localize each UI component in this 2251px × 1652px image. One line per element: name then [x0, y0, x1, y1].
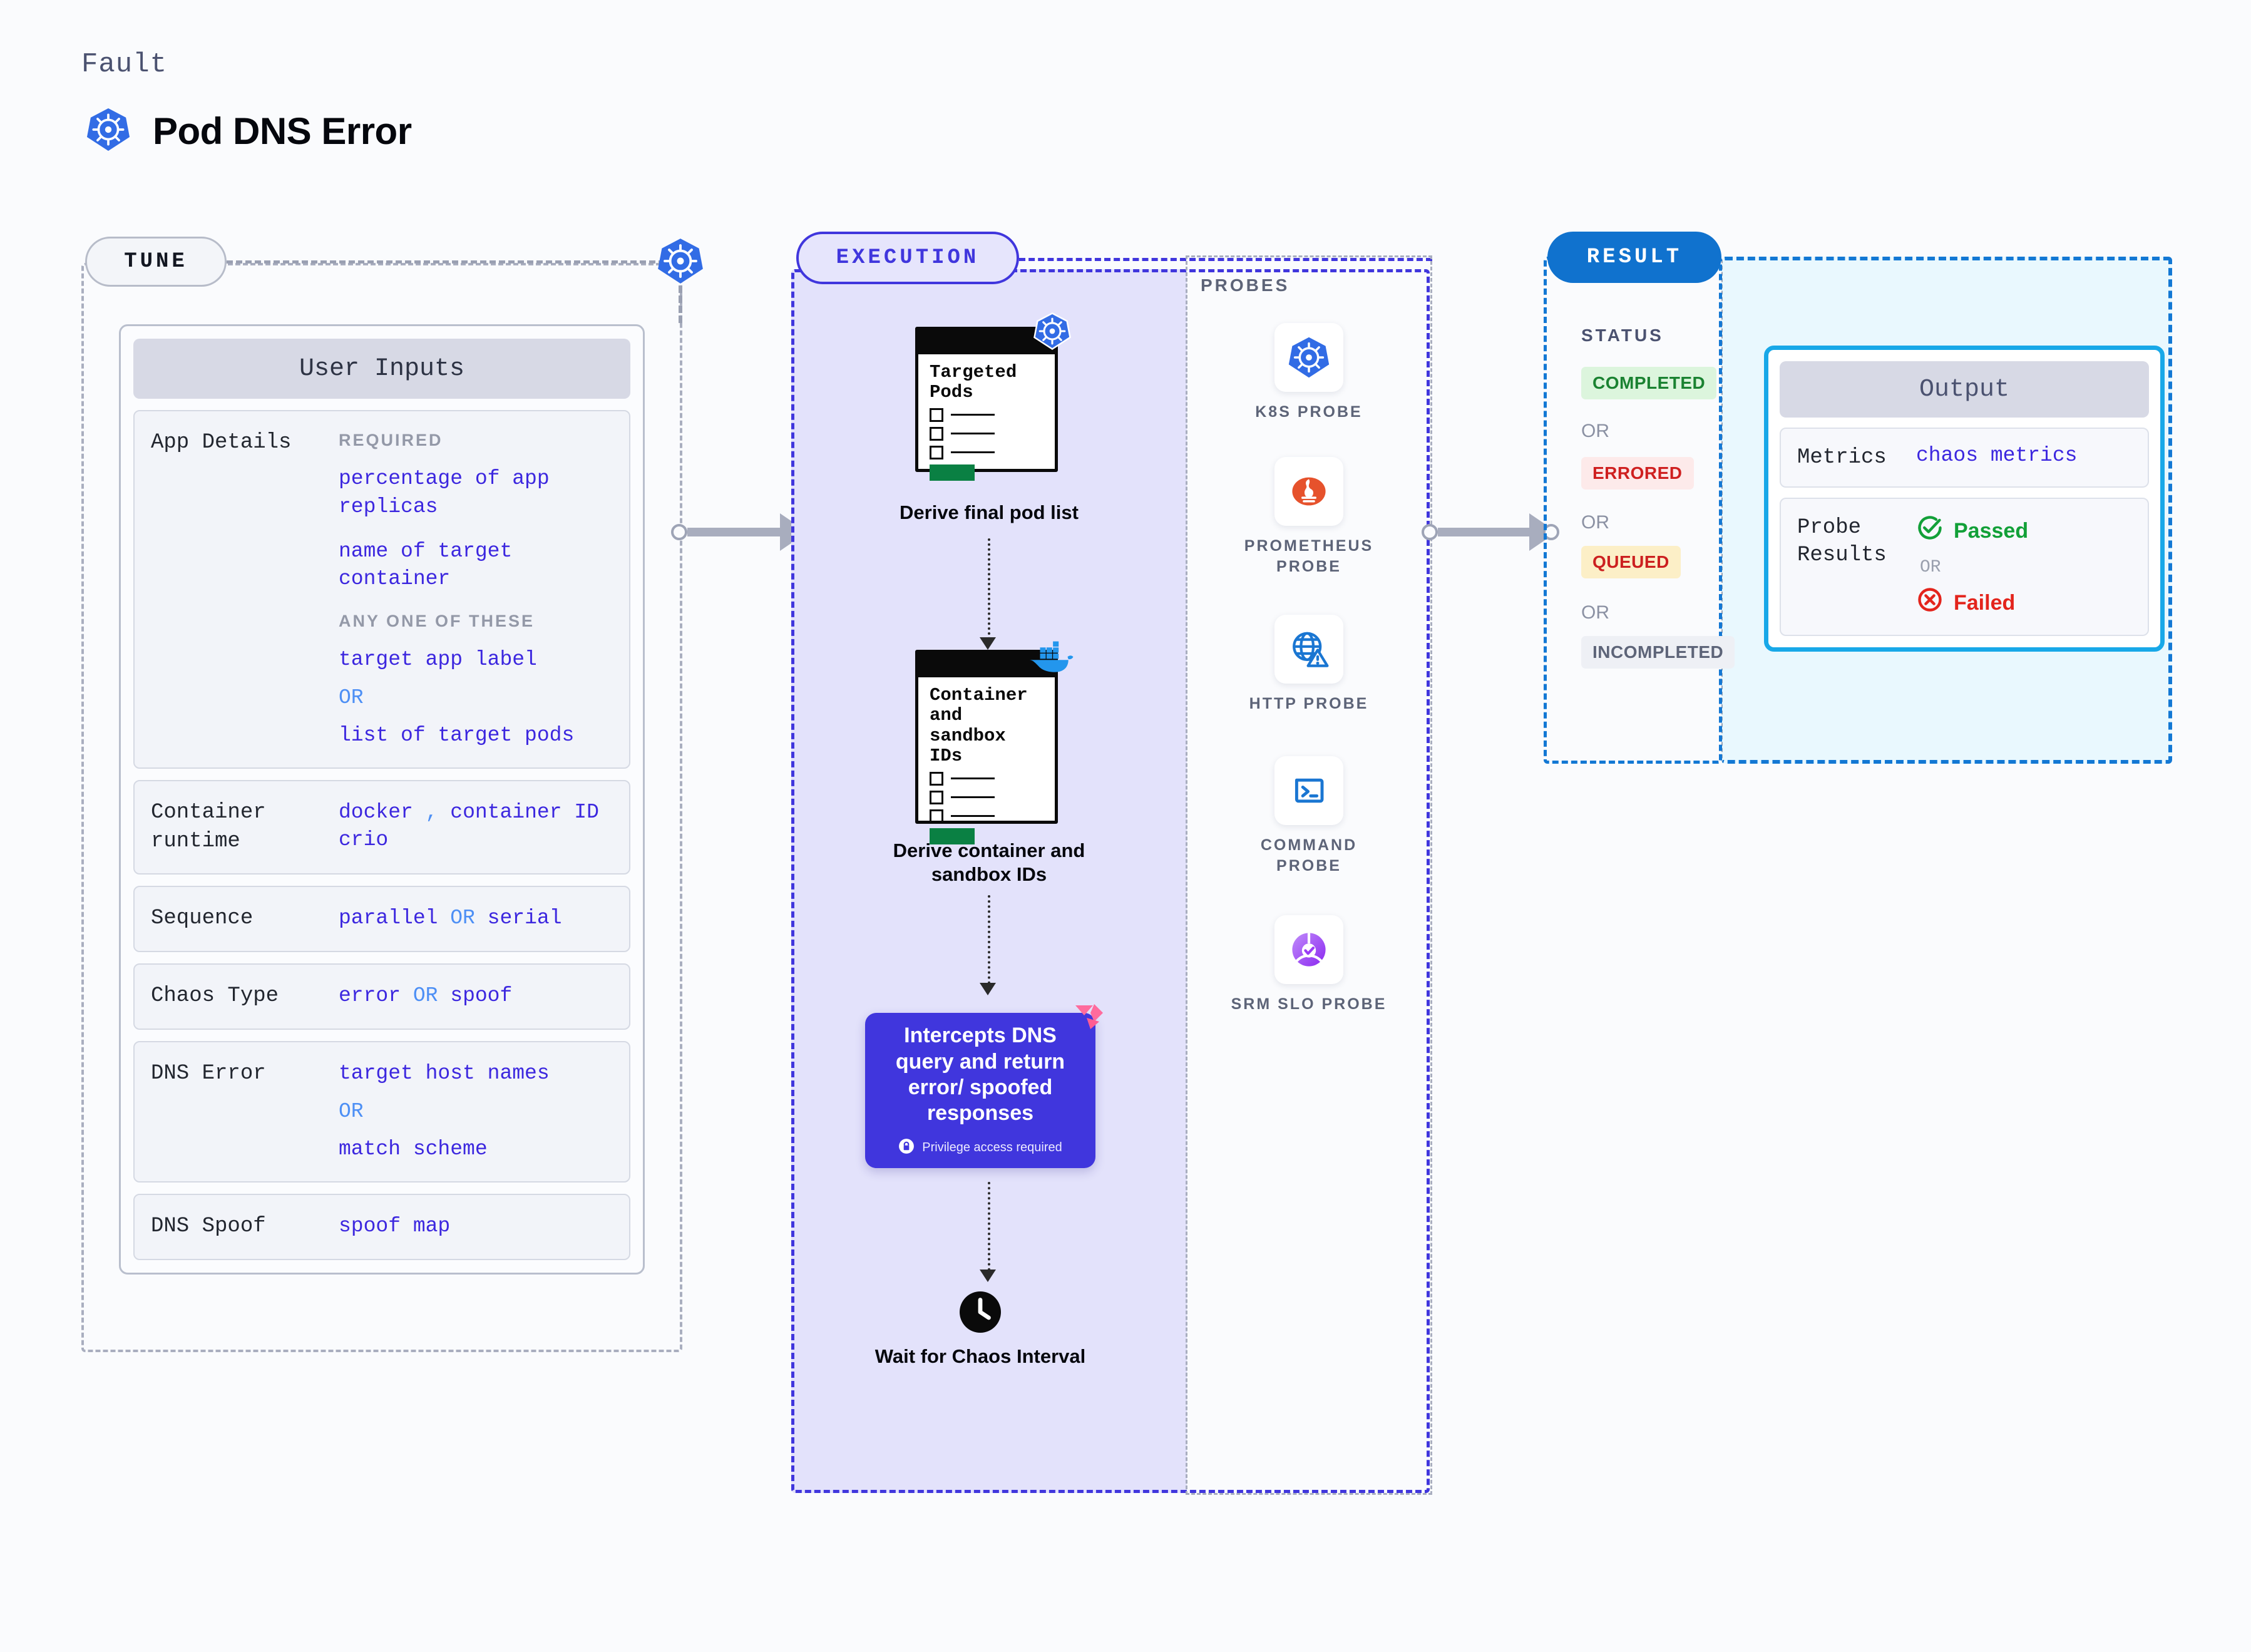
- or-separator: OR: [1581, 602, 1609, 623]
- flow-arrow: [988, 538, 990, 645]
- comma-separator: ,: [426, 801, 438, 824]
- node-container-sandbox-ids: Container and sandbox IDs: [915, 650, 1058, 824]
- probe-k8s[interactable]: K8S PROBE: [1228, 323, 1390, 423]
- row-value: container ID: [450, 801, 599, 824]
- tune-k8s-tail: [679, 285, 682, 323]
- row-value: list of target pods: [339, 722, 613, 750]
- or-separator: OR: [1581, 512, 1609, 533]
- flow-arrow: [988, 895, 990, 989]
- input-row-app-details[interactable]: App Details REQUIRED percentage of app r…: [133, 410, 630, 769]
- row-value: serial: [488, 906, 562, 930]
- close-circle-icon: [1916, 586, 1944, 620]
- row-label: App Details: [151, 429, 339, 750]
- row-label: Container runtime: [151, 799, 339, 856]
- output-card: Output Metrics chaos metrics Probe Resul…: [1764, 346, 2165, 652]
- probes-label: PROBES: [1201, 275, 1290, 295]
- probe-http[interactable]: HTTP PROBE: [1228, 615, 1390, 714]
- check-circle-icon: [1916, 514, 1944, 548]
- kubernetes-icon: [1274, 323, 1343, 392]
- probe-result-passed: Passed: [1916, 514, 2131, 548]
- status-label: STATUS: [1581, 326, 1664, 346]
- fault-eyebrow: Fault: [81, 49, 167, 80]
- globe-warning-icon: [1274, 615, 1343, 684]
- or-separator: OR: [339, 686, 364, 709]
- input-row-chaos-type[interactable]: Chaos Type error OR spoof: [133, 963, 630, 1030]
- doc-title: Container and sandbox IDs: [930, 685, 1046, 767]
- node-caption: Wait for Chaos Interval: [874, 1345, 1087, 1368]
- user-inputs-card: User Inputs App Details REQUIRED percent…: [119, 324, 645, 1275]
- probe-prometheus[interactable]: PROMETHEUS PROBE: [1228, 457, 1390, 577]
- probe-label: SRM SLO PROBE: [1228, 994, 1390, 1015]
- row-value: target host names: [339, 1060, 613, 1088]
- kubernetes-icon: [656, 237, 705, 285]
- terminal-icon: [1274, 756, 1343, 825]
- docker-icon: [1025, 640, 1074, 682]
- status-badge-completed: COMPLETED: [1581, 367, 1716, 399]
- connector-dot: [671, 524, 687, 540]
- input-row-dns-spoof[interactable]: DNS Spoof spoof map: [133, 1194, 630, 1260]
- connector-bar: [1438, 528, 1531, 536]
- row-value: match scheme: [339, 1136, 613, 1164]
- row-value: error: [339, 984, 401, 1007]
- row-value: crio: [339, 826, 613, 854]
- tune-badge: TUNE: [85, 237, 227, 287]
- flow-arrowhead: [980, 983, 996, 995]
- flow-arrowhead: [980, 1270, 996, 1282]
- probe-label: HTTP PROBE: [1228, 694, 1390, 714]
- or-separator: OR: [339, 1100, 364, 1123]
- probe-srm-slo[interactable]: SRM SLO PROBE: [1228, 915, 1390, 1015]
- row-value: name of target container: [339, 538, 613, 593]
- row-label: DNS Spoof: [151, 1213, 339, 1241]
- privilege-note: Privilege access required: [898, 1138, 1062, 1158]
- doc-checklist: [930, 772, 1046, 844]
- row-label: Sequence: [151, 905, 339, 933]
- page-title: Pod DNS Error: [153, 110, 412, 153]
- row-label: Metrics: [1797, 444, 1916, 471]
- row-value: docker: [339, 801, 413, 824]
- row-value: target app label: [339, 646, 613, 674]
- connector-dot: [1422, 524, 1438, 540]
- result-badge: RESULT: [1547, 232, 1721, 283]
- chaos-action-card: Intercepts DNS query and return error/ s…: [865, 1013, 1095, 1168]
- execution-badge: EXECUTION: [796, 232, 1019, 284]
- chaos-action-text: Intercepts DNS query and return error/ s…: [865, 1023, 1095, 1127]
- row-label: Probe Results: [1797, 514, 1916, 620]
- node-caption: Derive final pod list: [883, 501, 1095, 525]
- node-caption: Derive container and sandbox IDs: [883, 839, 1095, 886]
- lock-icon: [898, 1138, 915, 1158]
- doc-title: Targeted Pods: [930, 362, 1046, 403]
- privilege-text: Privilege access required: [922, 1141, 1062, 1155]
- connector-bar: [687, 528, 781, 536]
- kubernetes-icon: [85, 106, 131, 156]
- status-badge-queued: QUEUED: [1581, 546, 1681, 578]
- failed-label: Failed: [1954, 591, 2015, 615]
- or-separator: OR: [413, 984, 438, 1007]
- connector-tune-execution: [671, 520, 810, 545]
- node-targeted-pods: Targeted Pods: [915, 327, 1058, 472]
- row-label: Chaos Type: [151, 982, 339, 1011]
- input-row-sequence[interactable]: Sequence parallel OR serial: [133, 886, 630, 952]
- or-separator: OR: [1920, 558, 2131, 577]
- or-separator: OR: [1581, 421, 1609, 442]
- status-badge-incompleted: INCOMPLETED: [1581, 636, 1735, 669]
- connector-execution-result: [1422, 520, 1559, 545]
- or-separator: OR: [450, 906, 475, 930]
- output-row-probe-results: Probe Results Passed OR: [1780, 498, 2149, 636]
- input-row-container-runtime[interactable]: Container runtime docker , container ID …: [133, 780, 630, 875]
- passed-label: Passed: [1954, 519, 2028, 543]
- tune-connector-dash: [227, 260, 665, 264]
- user-inputs-title: User Inputs: [133, 339, 630, 399]
- probe-label: COMMAND PROBE: [1228, 835, 1390, 876]
- status-badge-errored: ERRORED: [1581, 457, 1694, 490]
- clock-icon: [958, 1290, 1003, 1335]
- input-row-dns-error[interactable]: DNS Error target host names OR match sch…: [133, 1041, 630, 1183]
- prometheus-icon: [1274, 457, 1343, 526]
- probe-label: K8S PROBE: [1228, 402, 1390, 423]
- row-value: percentage of app replicas: [339, 465, 613, 521]
- srm-slo-icon: [1274, 915, 1343, 984]
- flow-arrow: [988, 1182, 990, 1276]
- probe-result-failed: Failed: [1916, 586, 2131, 620]
- row-value: parallel: [339, 906, 438, 930]
- output-row-metrics: Metrics chaos metrics: [1780, 428, 2149, 488]
- flow-arrowhead: [980, 637, 996, 650]
- row-label: DNS Error: [151, 1060, 339, 1164]
- row-value: spoof map: [339, 1214, 450, 1238]
- doc-progress-bar: [930, 464, 975, 481]
- probe-command[interactable]: COMMAND PROBE: [1228, 756, 1390, 876]
- anyone-tag: ANY ONE OF THESE: [339, 610, 613, 632]
- required-tag: REQUIRED: [339, 429, 613, 451]
- row-value: chaos metrics: [1916, 444, 2077, 467]
- row-value: spoof: [450, 984, 512, 1007]
- output-title: Output: [1780, 361, 2149, 418]
- litmus-icon: [1072, 1003, 1104, 1036]
- fault-title-row: Pod DNS Error: [85, 106, 412, 156]
- doc-checklist: [930, 408, 1046, 481]
- kubernetes-icon: [1033, 312, 1072, 354]
- probe-label: PROMETHEUS PROBE: [1228, 536, 1390, 577]
